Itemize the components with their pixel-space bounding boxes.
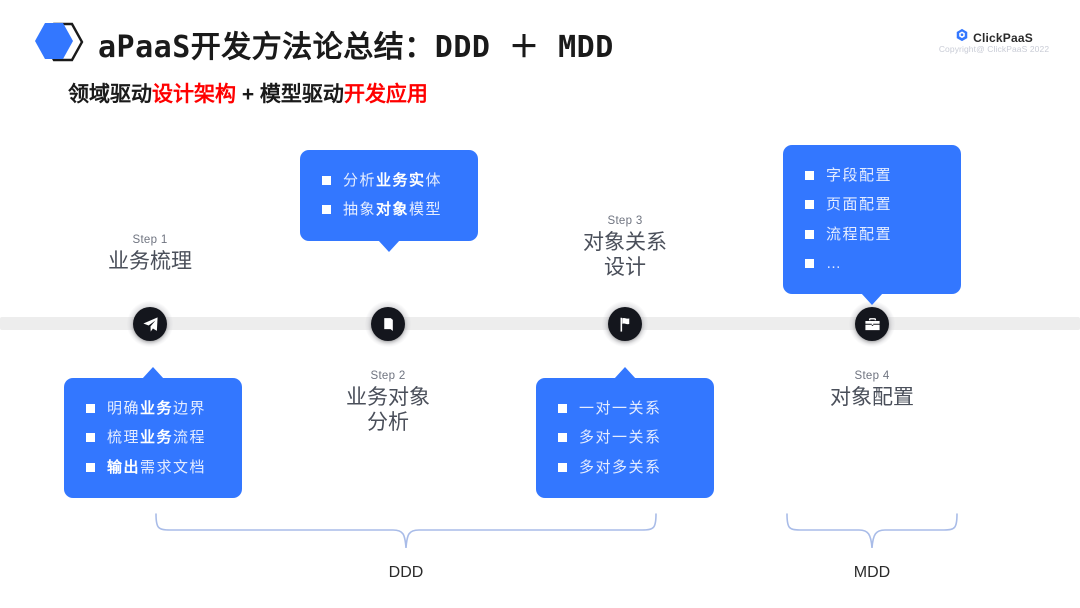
- bullet-square-icon: [86, 404, 95, 413]
- bullet-square-icon: [558, 433, 567, 442]
- bullet-square-icon: [322, 176, 331, 185]
- list-item: 输出需求文档: [86, 453, 222, 482]
- item-text: 输出需求文档: [107, 453, 206, 482]
- timeline-node-step-1[interactable]: [127, 301, 173, 347]
- bullet-square-icon: [558, 404, 567, 413]
- subtitle-part-2: 设计架构: [152, 83, 236, 106]
- item-text: 分析业务实体: [343, 166, 442, 195]
- bullet-square-icon: [805, 259, 814, 268]
- list-item: 页面配置: [805, 190, 941, 219]
- card-pointer-down: [861, 293, 883, 305]
- page-subtitle: 领域驱动设计架构 + 模型驱动开发应用: [68, 78, 428, 108]
- brace-label-mdd: MDD: [802, 564, 942, 582]
- briefcase-icon: [855, 307, 889, 341]
- list-item: 字段配置: [805, 161, 941, 190]
- step-label-3: Step 3 对象关系 设计: [540, 215, 710, 281]
- timeline-node-step-3[interactable]: [602, 301, 648, 347]
- bullet-square-icon: [86, 463, 95, 472]
- book-icon: [371, 307, 405, 341]
- hexagon-logo: [32, 18, 88, 70]
- item-text: 页面配置: [826, 190, 892, 219]
- bullet-square-icon: [558, 463, 567, 472]
- brace-mdd: [782, 512, 962, 552]
- item-text: 多对多关系: [579, 453, 662, 482]
- brand-logo: ClickPaaS Copyright@ ClickPaaS 2022: [934, 28, 1054, 54]
- card-pointer-up: [142, 367, 164, 379]
- step-label-4: Step 4 对象配置: [787, 370, 957, 411]
- item-text: 一对一关系: [579, 394, 662, 423]
- bullet-square-icon: [805, 171, 814, 180]
- item-text: 明确业务边界: [107, 394, 206, 423]
- item-text: 抽象对象模型: [343, 195, 442, 224]
- subtitle-part-3: + 模型驱动: [236, 83, 344, 106]
- brace-label-ddd: DDD: [336, 564, 476, 582]
- item-text: 字段配置: [826, 161, 892, 190]
- list-item: …: [805, 249, 941, 278]
- list-item: 多对多关系: [558, 453, 694, 482]
- step-number-2: Step 2: [303, 370, 473, 382]
- bullet-square-icon: [322, 205, 331, 214]
- bullet-square-icon: [86, 433, 95, 442]
- step-number-3: Step 3: [540, 215, 710, 227]
- item-text: 梳理业务流程: [107, 423, 206, 452]
- subtitle-part-4: 开发应用: [344, 83, 428, 106]
- step-label-1: Step 1 业务梳理: [65, 234, 235, 275]
- timeline-node-step-4[interactable]: [849, 301, 895, 347]
- step-name-2: 业务对象 分析: [303, 386, 473, 436]
- card-step-2[interactable]: 分析业务实体 抽象对象模型: [300, 150, 478, 241]
- brace-ddd: [150, 512, 662, 552]
- brand-name: ClickPaaS: [973, 31, 1033, 45]
- list-item: 分析业务实体: [322, 166, 458, 195]
- bullet-square-icon: [805, 230, 814, 239]
- list-item: 一对一关系: [558, 394, 694, 423]
- list-item: 明确业务边界: [86, 394, 222, 423]
- item-text: 多对一关系: [579, 423, 662, 452]
- paper-plane-icon: [133, 307, 167, 341]
- flag-icon: [608, 307, 642, 341]
- page-title: aPaaS开发方法论总结：DDD ＋ MDD: [98, 22, 614, 66]
- step-name-1: 业务梳理: [65, 250, 235, 275]
- list-item: 梳理业务流程: [86, 423, 222, 452]
- copyright-text: Copyright@ ClickPaaS 2022: [934, 44, 1054, 54]
- card-step-3[interactable]: 一对一关系 多对一关系 多对多关系: [536, 378, 714, 498]
- card-step-1[interactable]: 明确业务边界 梳理业务流程 输出需求文档: [64, 378, 242, 498]
- card-pointer-down: [378, 240, 400, 252]
- step-number-1: Step 1: [65, 234, 235, 246]
- item-text: 流程配置: [826, 220, 892, 249]
- list-item: 抽象对象模型: [322, 195, 458, 224]
- timeline-node-step-2[interactable]: [365, 301, 411, 347]
- bullet-square-icon: [805, 200, 814, 209]
- step-number-4: Step 4: [787, 370, 957, 382]
- list-item: 流程配置: [805, 220, 941, 249]
- step-label-2: Step 2 业务对象 分析: [303, 370, 473, 436]
- step-name-3: 对象关系 设计: [540, 231, 710, 281]
- card-step-4[interactable]: 字段配置 页面配置 流程配置 …: [783, 145, 961, 294]
- list-item: 多对一关系: [558, 423, 694, 452]
- item-text: …: [826, 249, 843, 278]
- card-pointer-up: [614, 367, 636, 379]
- step-name-4: 对象配置: [787, 386, 957, 411]
- subtitle-part-1: 领域驱动: [68, 83, 152, 106]
- slide-canvas: aPaaS开发方法论总结：DDD ＋ MDD 领域驱动设计架构 + 模型驱动开发…: [0, 0, 1080, 608]
